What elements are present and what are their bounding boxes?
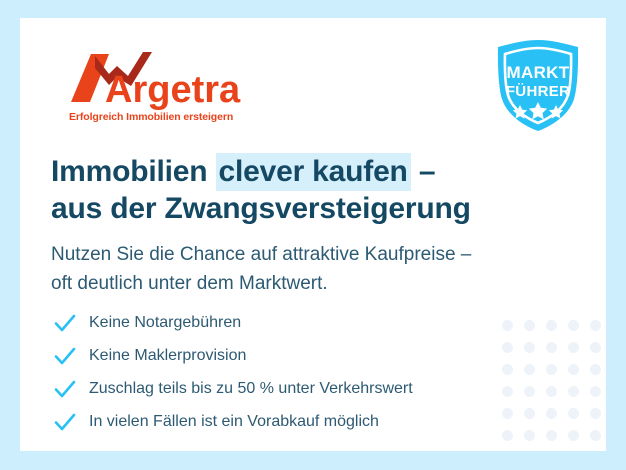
list-item: Keine Maklerprovision xyxy=(53,339,523,372)
headline-text-before: Immobilien xyxy=(51,155,216,188)
pattern-dot xyxy=(546,386,557,397)
headline-text-after: – xyxy=(411,155,436,188)
headline-line-2: aus der Zwangsversteigerung xyxy=(51,190,571,227)
checklist-item-label: In vielen Fällen ist ein Vorabkauf mögli… xyxy=(89,412,379,432)
pattern-dot xyxy=(546,430,557,441)
pattern-dot xyxy=(524,364,535,375)
logo-tagline: Erfolgreich Immobilien ersteigern xyxy=(69,111,233,123)
pattern-dot xyxy=(590,364,601,375)
pattern-dot xyxy=(546,320,557,331)
checklist-item-label: Keine Maklerprovision xyxy=(89,346,246,366)
checklist-item-label: Keine Notargebühren xyxy=(89,313,241,333)
pattern-dot xyxy=(590,320,601,331)
pattern-dot xyxy=(524,320,535,331)
pattern-dot xyxy=(546,342,557,353)
pattern-dot xyxy=(590,386,601,397)
pattern-dot xyxy=(568,364,579,375)
list-item: In vielen Fällen ist ein Vorabkauf mögli… xyxy=(53,405,523,438)
checklist-item-label: Zuschlag teils bis zu 50 % unter Verkehr… xyxy=(89,379,413,399)
pattern-dot xyxy=(590,408,601,419)
list-item: Keine Notargebühren xyxy=(53,306,523,339)
check-icon xyxy=(53,346,77,366)
logo-wordmark: Argetra xyxy=(105,69,241,111)
pattern-dot xyxy=(546,408,557,419)
pattern-dot xyxy=(590,342,601,353)
subheading: Nutzen Sie die Chance auf attraktive Kau… xyxy=(51,240,571,298)
pattern-dot xyxy=(568,342,579,353)
check-icon xyxy=(53,379,77,399)
pattern-dot xyxy=(524,342,535,353)
page-title: Immobilien clever kaufen – aus der Zwang… xyxy=(51,153,571,227)
pattern-dot xyxy=(568,386,579,397)
pattern-dot xyxy=(568,408,579,419)
promo-banner: Argetra Erfolgreich Immobilien ersteiger… xyxy=(0,0,626,470)
pattern-dot xyxy=(590,430,601,441)
pattern-dot xyxy=(568,320,579,331)
badge-line1: MARKT xyxy=(507,63,570,82)
pattern-dot xyxy=(524,430,535,441)
pattern-dot xyxy=(546,364,557,375)
headline-highlight: clever kaufen xyxy=(216,153,411,191)
pattern-dot xyxy=(524,408,535,419)
check-icon xyxy=(53,313,77,333)
check-icon xyxy=(53,412,77,432)
argetra-logo[interactable]: Argetra Erfolgreich Immobilien ersteiger… xyxy=(57,46,257,126)
pattern-dot xyxy=(524,386,535,397)
subheading-line-2: oft deutlich unter dem Marktwert. xyxy=(51,273,328,294)
headline-line-1: Immobilien clever kaufen – xyxy=(51,153,571,190)
subheading-line-1: Nutzen Sie die Chance auf attraktive Kau… xyxy=(51,244,471,265)
pattern-dot xyxy=(568,430,579,441)
market-leader-badge: MARKT FÜHRER xyxy=(486,33,590,137)
list-item: Zuschlag teils bis zu 50 % unter Verkehr… xyxy=(53,372,523,405)
benefits-checklist: Keine Notargebühren Keine Maklerprovisio… xyxy=(53,306,523,438)
promo-card: Argetra Erfolgreich Immobilien ersteiger… xyxy=(20,18,606,451)
badge-line2: FÜHRER xyxy=(506,83,570,100)
